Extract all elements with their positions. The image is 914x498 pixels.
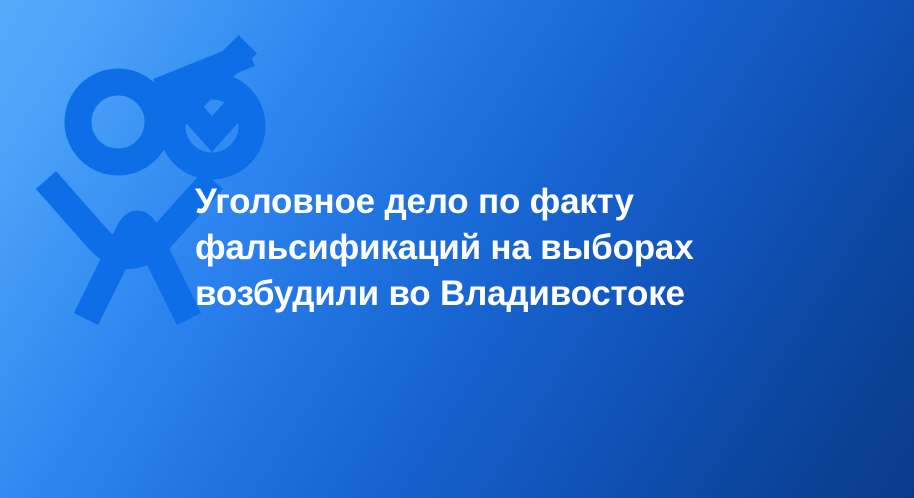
diagonal-slash-group: [151, 35, 257, 141]
left-ring-icon: [78, 82, 158, 162]
headline-line-2: фальсификаций на выборах: [195, 225, 895, 271]
diagonal-slash-icon: [151, 35, 257, 141]
diagonal-stroke-icon: [158, 54, 250, 91]
arms-curve-icon: [46, 180, 213, 256]
headline-line-3: возбудили во Владивостоке: [195, 271, 895, 317]
headline: Уголовное дело по факту фальсификаций на…: [195, 179, 895, 317]
headline-line-1: Уголовное дело по факту: [195, 179, 895, 225]
news-card: Уголовное дело по факту фальсификаций на…: [0, 0, 914, 498]
chevron-check-icon: [185, 104, 239, 134]
legs-chevron-icon: [86, 224, 189, 319]
right-ring-icon: [172, 86, 252, 166]
